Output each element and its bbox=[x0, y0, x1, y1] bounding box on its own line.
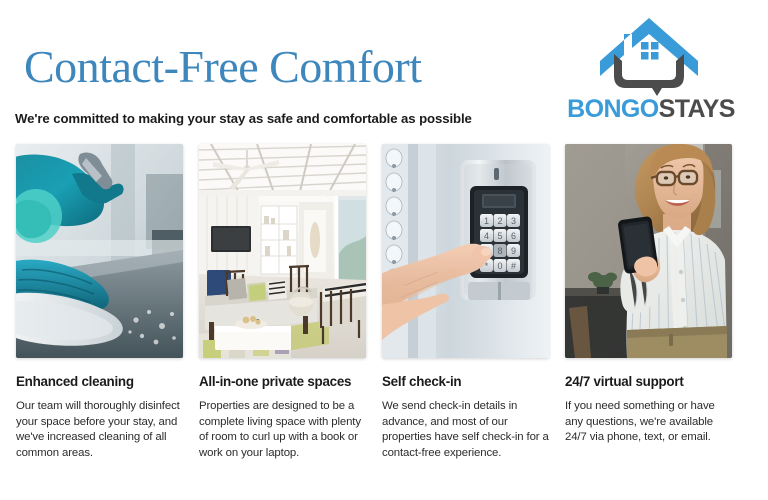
feature-card-row: Enhanced cleaning Our team will thorough… bbox=[16, 144, 752, 484]
photo-gloved-hands-disinfecting-surface bbox=[16, 144, 183, 358]
page-title: Contact-Free Comfort bbox=[24, 42, 422, 92]
svg-text:6: 6 bbox=[511, 231, 516, 241]
card-title: Self check-in bbox=[382, 374, 549, 390]
svg-text:8: 8 bbox=[497, 246, 502, 256]
svg-text:#: # bbox=[511, 261, 516, 271]
card-title: 24/7 virtual support bbox=[565, 374, 732, 390]
feature-card-self-check-in: 123 456 789 *0# bbox=[382, 144, 549, 484]
card-body: If you need something or have any questi… bbox=[565, 399, 732, 446]
feature-card-enhanced-cleaning: Enhanced cleaning Our team will thorough… bbox=[16, 144, 183, 484]
svg-text:0: 0 bbox=[497, 261, 502, 271]
house-speech-bubble-icon bbox=[594, 14, 704, 96]
wordmark-secondary: STAYS bbox=[659, 95, 735, 123]
card-body: We send check-in details in advance, and… bbox=[382, 399, 549, 461]
brand-logo[interactable]: BONGOSTAYS bbox=[556, 14, 746, 126]
card-body: Our team will thoroughly disinfect your … bbox=[16, 399, 183, 461]
svg-text:2: 2 bbox=[497, 216, 502, 226]
page-subtitle: We're committed to making your stay as s… bbox=[15, 111, 472, 126]
card-title: All-in-one private spaces bbox=[199, 374, 366, 390]
svg-text:1: 1 bbox=[484, 216, 489, 226]
card-body: Properties are designed to be a complete… bbox=[199, 399, 366, 461]
svg-text:5: 5 bbox=[497, 231, 502, 241]
card-title: Enhanced cleaning bbox=[16, 374, 183, 390]
brand-wordmark: BONGOSTAYS bbox=[556, 95, 746, 124]
svg-text:3: 3 bbox=[511, 216, 516, 226]
feature-card-virtual-support: 24/7 virtual support If you need somethi… bbox=[565, 144, 732, 484]
photo-finger-pressing-door-keypad: 123 456 789 *0# bbox=[382, 144, 549, 358]
feature-card-private-spaces: All-in-one private spaces Properties are… bbox=[199, 144, 366, 484]
photo-bright-white-living-room bbox=[199, 144, 366, 358]
svg-text:4: 4 bbox=[484, 231, 489, 241]
photo-smiling-woman-with-smartphone bbox=[565, 144, 732, 358]
page-header: Contact-Free Comfort We're committed to … bbox=[0, 0, 768, 140]
svg-text:9: 9 bbox=[511, 246, 516, 256]
wordmark-primary: BONGO bbox=[567, 95, 658, 123]
